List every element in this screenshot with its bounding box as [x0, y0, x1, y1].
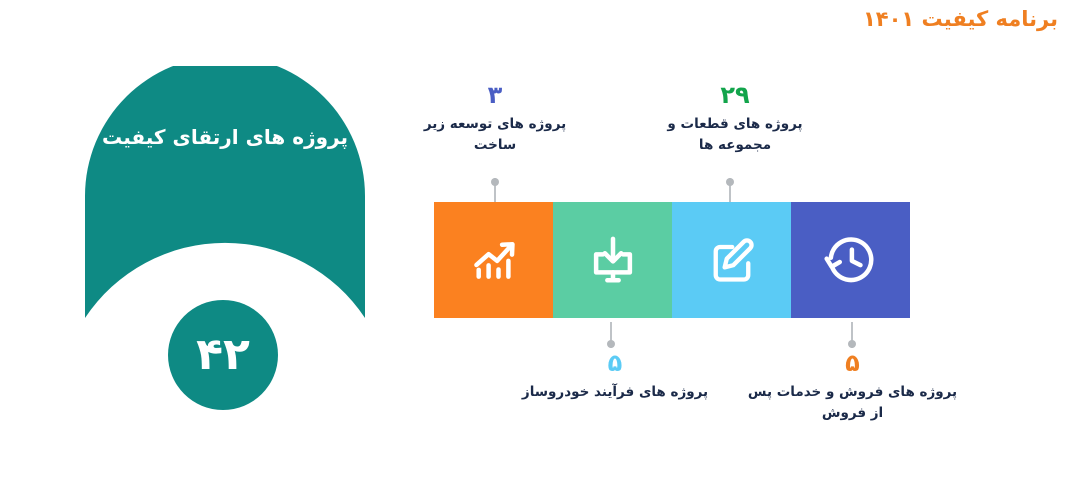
callout-caption-automaker-process: پروژه های فرآیند خودروساز: [520, 382, 710, 403]
callout-caption-sales-after-sales: پروژه های فروش و خدمات پس از فروش: [745, 382, 960, 424]
summary-total-badge: ۴۲: [168, 300, 278, 410]
download-monitor-icon: [586, 233, 640, 287]
callout-sales-after-sales: ۵ پروژه های فروش و خدمات پس از فروش: [745, 350, 960, 424]
callout-caption-parts-assemblies: پروژه های قطعات و مجموعه ها: [640, 114, 830, 156]
callout-infrastructure: ۳ پروژه های توسعه زیر ساخت: [405, 82, 585, 156]
connector-dot-icon: [491, 178, 499, 186]
connector-dot-icon: [726, 178, 734, 186]
callout-count-infrastructure: ۳: [405, 82, 585, 108]
page-title: برنامه کیفیت ۱۴۰۱: [863, 6, 1058, 33]
tile-sales-after-sales[interactable]: [434, 202, 553, 318]
summary-dome: پروژه های ارتقای کیفیت ۴۲: [80, 66, 370, 386]
connector-infrastructure: [494, 178, 496, 202]
history-clock-icon: [824, 233, 878, 287]
quality-program-infographic: برنامه کیفیت ۱۴۰۱ پروژه های ارتقای کیفیت…: [0, 0, 1080, 482]
category-tiles: [434, 202, 910, 318]
connector-dot-icon: [607, 340, 615, 348]
connector-sales-after-sales: [851, 322, 853, 348]
connector-dot-icon: [848, 340, 856, 348]
callout-count-sales-after-sales: ۵: [745, 350, 960, 376]
connector-automaker-process: [610, 322, 612, 348]
growth-bar-chart-icon: [467, 233, 521, 287]
callout-automaker-process: ۵ پروژه های فرآیند خودروساز: [520, 350, 710, 403]
tile-automaker-process[interactable]: [553, 202, 672, 318]
tile-parts-assemblies[interactable]: [672, 202, 791, 318]
connector-parts-assemblies: [729, 178, 731, 202]
edit-pencil-icon: [706, 234, 758, 286]
callout-parts-assemblies: ۲۹ پروژه های قطعات و مجموعه ها: [640, 82, 830, 156]
callout-count-parts-assemblies: ۲۹: [640, 82, 830, 108]
callout-count-automaker-process: ۵: [520, 350, 710, 376]
tile-infrastructure[interactable]: [791, 202, 910, 318]
callout-caption-infrastructure: پروژه های توسعه زیر ساخت: [405, 114, 585, 156]
